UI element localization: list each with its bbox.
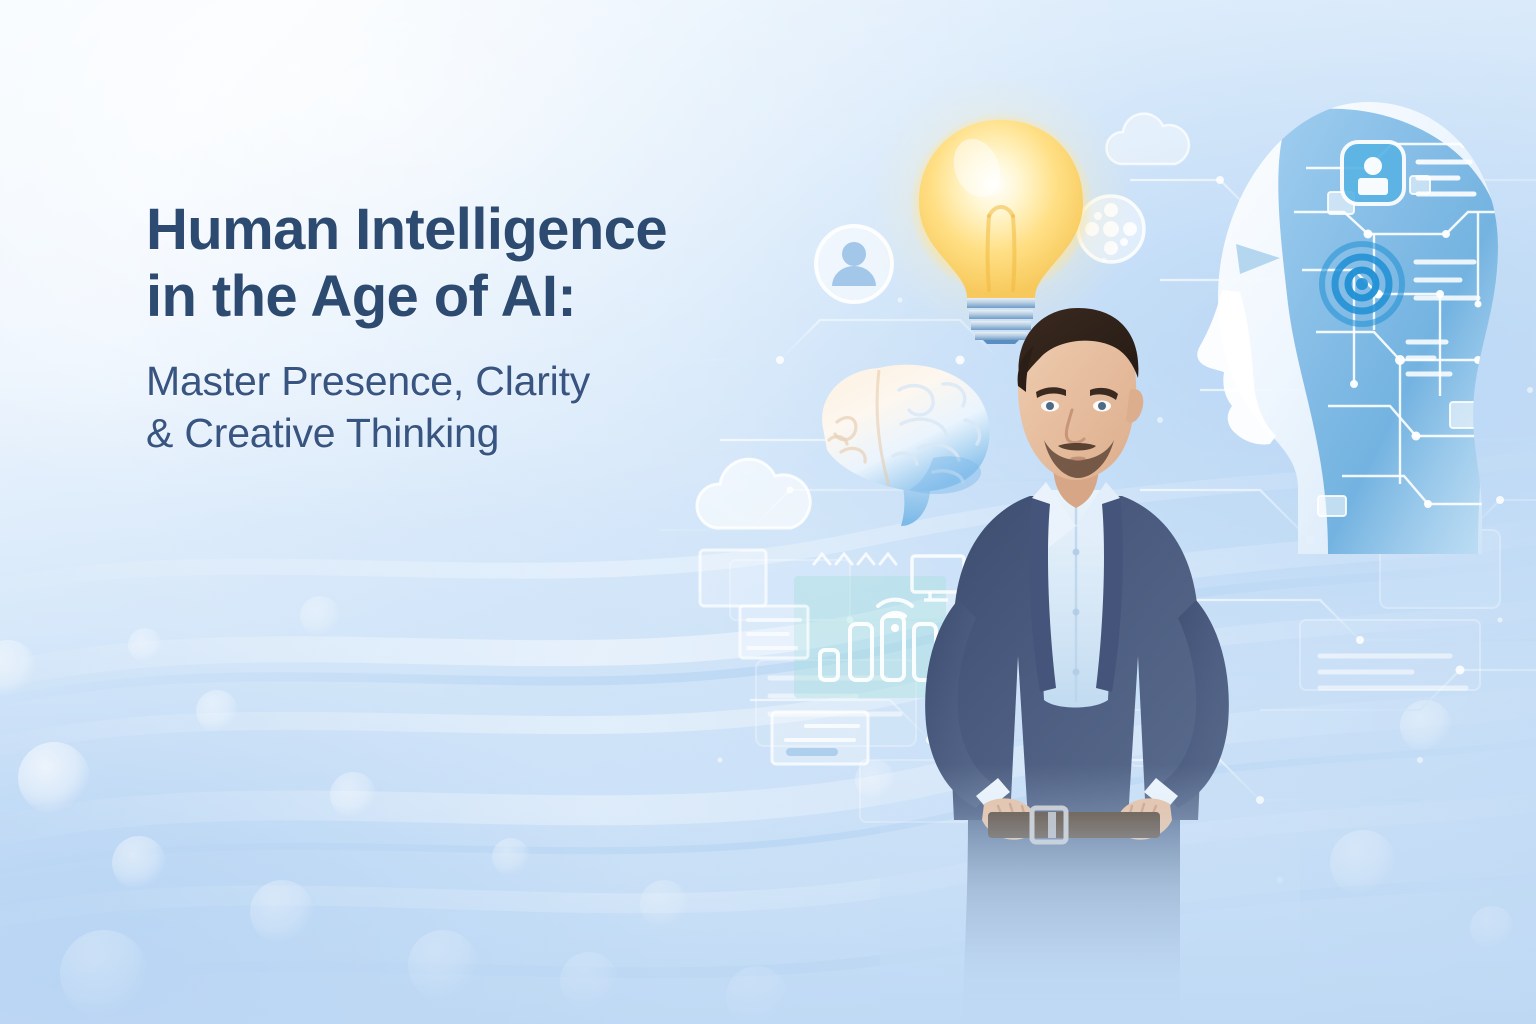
page-subtitle: Master Presence, Clarity & Creative Thin… [146,355,806,460]
businessman-figure [880,300,1300,1024]
person-badge-icon [1342,142,1404,204]
bottom-haze [0,814,1536,1024]
page-title: Human Intelligence in the Age of AI: [146,196,806,331]
hero-copy-block: Human Intelligence in the Age of AI: Mas… [146,196,806,459]
hero-banner: Human Intelligence in the Age of AI: Mas… [0,0,1536,1024]
figure-bottom-fade [880,764,1300,1024]
